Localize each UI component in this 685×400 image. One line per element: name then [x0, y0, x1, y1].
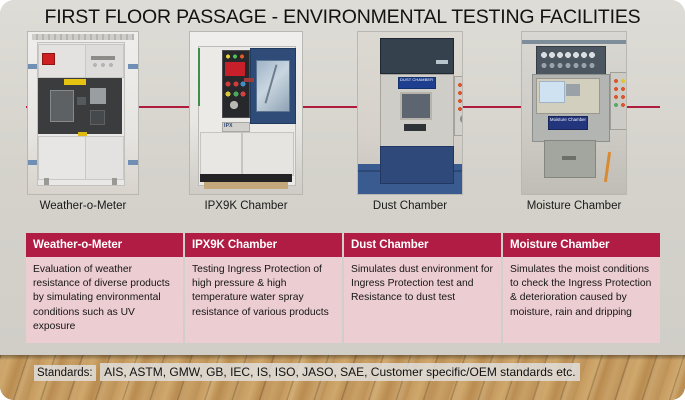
cabinet-bottom-right-panel — [85, 136, 124, 180]
cabinet-bottom-right-door — [242, 132, 294, 176]
slide-root: FIRST FLOOR PASSAGE - ENVIRONMENTAL TEST… — [0, 0, 685, 400]
chamber-top-unit — [380, 38, 454, 74]
dust-chamber-nameplate-text: DUST CHAMBER — [400, 78, 433, 83]
table-body-cell: Evaluation of weather resistance of dive… — [26, 257, 183, 343]
ceiling-pipe — [522, 40, 626, 44]
chamber-vent-secondary — [90, 110, 105, 125]
spray-nozzle-icon — [244, 78, 254, 82]
standards-list: AIS, ASTM, GMW, GB, IEC, IS, ISO, JASO, … — [100, 363, 579, 381]
page-title: FIRST FLOOR PASSAGE - ENVIRONMENTAL TEST… — [0, 6, 685, 29]
top-unit-label — [436, 60, 448, 64]
table-body-cell: Simulates the moist conditions to check … — [503, 257, 660, 343]
control-panel-buttons — [224, 80, 246, 112]
standards-block: Standards: AIS, ASTM, GMW, GB, IEC, IS, … — [34, 361, 580, 381]
warning-label-icon — [64, 79, 86, 85]
standards-label: Standards: — [34, 365, 96, 381]
table-header-cell: IPX9K Chamber — [185, 233, 342, 257]
chamber-inner-window — [566, 84, 580, 96]
chamber-viewing-window — [256, 60, 290, 112]
ceiling-rail — [32, 34, 134, 40]
cabinet-green-edge — [198, 48, 200, 106]
cabinet-bottom-left-door — [200, 132, 242, 176]
photo-caption-dust-chamber: Dust Chamber — [358, 200, 462, 212]
chamber-viewing-window — [539, 81, 565, 103]
chamber-vent — [90, 88, 106, 104]
wall-trim-right-lower — [128, 160, 138, 165]
table-body-cell: Simulates dust environment for Ingress P… — [344, 257, 501, 343]
weather-o-meter-photo — [28, 32, 138, 194]
ipx-nameplate-text: IPX — [224, 123, 233, 129]
ipx9k-chamber-photo: IPX — [190, 32, 302, 194]
table-header-cell: Weather-o-Meter — [26, 233, 183, 257]
table-header-cell: Dust Chamber — [344, 233, 501, 257]
wood-footer-shadow — [0, 355, 685, 360]
table-column-weather-o-meter: Weather-o-Meter Evaluation of weather re… — [26, 233, 183, 343]
indicator-lights-icon — [225, 54, 245, 59]
cabinet-bottom-left-panel — [38, 136, 86, 180]
wooden-pallet — [204, 182, 288, 189]
table-body-cell: Testing Ingress Protection of high press… — [185, 257, 342, 343]
dust-chamber-photo: DUST CHAMBER — [358, 32, 462, 194]
emergency-stop-icon — [42, 53, 55, 65]
gauge-row-upper — [540, 51, 600, 59]
control-panel-buttons — [457, 82, 462, 126]
small-inspection-window — [77, 97, 86, 105]
facilities-table: Weather-o-Meter Evaluation of weather re… — [26, 233, 660, 343]
control-knobs-icon — [91, 62, 115, 68]
moisture-chamber-nameplate-text: Moisture Chamber — [550, 117, 586, 122]
control-panel-buttons — [613, 78, 626, 120]
gauge-row-lower — [540, 62, 600, 69]
table-header-cell: Moisture Chamber — [503, 233, 660, 257]
table-column-moisture-chamber: Moisture Chamber Simulates the moist con… — [503, 233, 660, 343]
chamber-base-unit — [380, 146, 454, 184]
table-column-ipx9k-chamber: IPX9K Chamber Testing Ingress Protection… — [185, 233, 342, 343]
wall-trim-right-upper — [128, 64, 138, 69]
photo-caption-weather-o-meter: Weather-o-Meter — [28, 200, 138, 212]
table-column-dust-chamber: Dust Chamber Simulates dust environment … — [344, 233, 501, 343]
moisture-chamber-photo: Moisture Chamber — [522, 32, 626, 194]
chamber-viewing-window — [400, 92, 432, 120]
cabinet-leg-left — [44, 178, 49, 185]
cabinet-leg-right — [112, 178, 117, 185]
chamber-access-slot — [404, 124, 426, 131]
photo-caption-moisture-chamber: Moisture Chamber — [522, 200, 626, 212]
photo-caption-ipx9k-chamber: IPX9K Chamber — [190, 200, 302, 212]
atlas-brand-logo — [91, 56, 115, 60]
control-panel-display — [225, 62, 245, 76]
water-tank-handle — [562, 156, 576, 160]
chamber-viewing-window — [50, 90, 74, 122]
cabinet-top-right-panel — [85, 44, 124, 78]
cabinet-plinth — [200, 174, 292, 182]
